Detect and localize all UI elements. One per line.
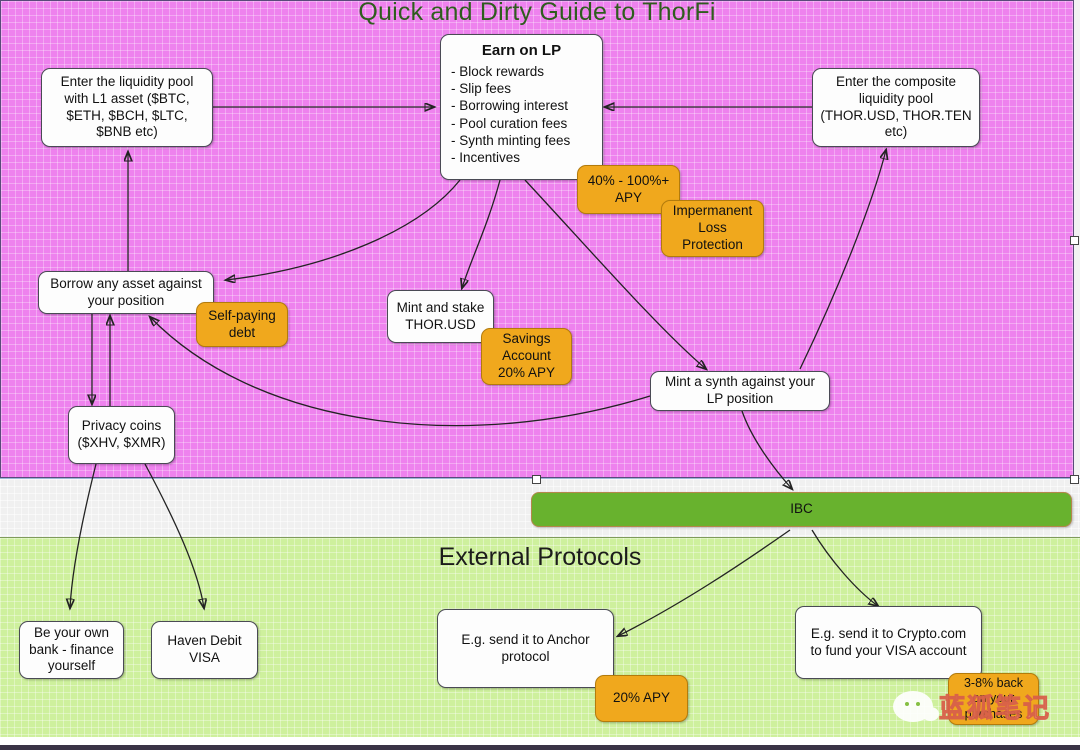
node-line: liquidity pool (820, 91, 971, 108)
bottom-dark-strip (0, 745, 1080, 750)
node-line: 20% APY (498, 365, 555, 382)
watermark-text: 蓝狐笔记 (939, 688, 1051, 725)
node-line: Account (498, 348, 555, 365)
node-line: Loss (673, 220, 753, 237)
node-list-item: - Synth minting fees (451, 132, 592, 149)
node-line: $BNB etc) (61, 124, 194, 141)
node-line: Self-paying (208, 308, 276, 325)
node-title: Earn on LP (451, 42, 592, 61)
selection-handle-right[interactable] (1070, 236, 1079, 245)
node-line: VISA (167, 650, 241, 667)
node-line: Impermanent (673, 203, 753, 220)
selection-handle-bottom-center[interactable] (532, 475, 541, 484)
node-line: bank - finance (29, 642, 114, 659)
node-line: Borrow any asset against (50, 276, 202, 293)
node-line: THOR.USD (397, 317, 485, 334)
node-line: Privacy coins (77, 418, 165, 435)
node-crypto-com[interactable]: E.g. send it to Crypto.com to fund your … (795, 606, 982, 679)
node-line: Be your own (29, 625, 114, 642)
node-mint-and-stake[interactable]: Mint and stake THOR.USD (387, 290, 494, 343)
node-line: 40% - 100%+ (588, 173, 669, 190)
node-list-item: - Pool curation fees (451, 115, 592, 132)
node-line: Protection (673, 237, 753, 254)
watermark: 蓝狐笔记 (893, 683, 1073, 729)
node-self-paying-debt[interactable]: Self-paying debt (196, 302, 288, 347)
node-impermanent-loss-protection[interactable]: Impermanent Loss Protection (661, 200, 764, 257)
node-line: your position (50, 293, 202, 310)
node-line: (THOR.USD, THOR.TEN (820, 108, 971, 125)
node-borrow-any-asset[interactable]: Borrow any asset against your position (38, 271, 214, 314)
node-line: E.g. send it to Crypto.com (810, 626, 966, 643)
node-be-your-own-bank[interactable]: Be your own bank - finance yourself (19, 621, 124, 679)
node-line: Mint and stake (397, 300, 485, 317)
node-privacy-coins[interactable]: Privacy coins ($XHV, $XMR) (68, 406, 175, 464)
node-line: $ETH, $BCH, $LTC, (61, 108, 194, 125)
node-label: IBC (790, 501, 813, 518)
node-line: protocol (461, 649, 589, 666)
node-line: debt (208, 325, 276, 342)
node-line: LP position (665, 391, 815, 408)
selection-handle-bottom-right[interactable] (1070, 475, 1079, 484)
node-line: Savings (498, 331, 555, 348)
node-line: ($XHV, $XMR) (77, 435, 165, 452)
node-line: with L1 asset ($BTC, (61, 91, 194, 108)
node-line: yourself (29, 658, 114, 675)
node-earn-on-lp[interactable]: Earn on LP - Block rewards - Slip fees -… (440, 34, 603, 180)
diagram-canvas: Quick and Dirty Guide to ThorFi External… (0, 0, 1080, 750)
node-enter-composite-pool[interactable]: Enter the composite liquidity pool (THOR… (812, 68, 980, 147)
node-line: Enter the composite (820, 74, 971, 91)
node-haven-debit-visa[interactable]: Haven Debit VISA (151, 621, 258, 679)
node-line: 20% APY (613, 690, 670, 707)
node-line: to fund your VISA account (810, 643, 966, 660)
node-anchor-apy-badge[interactable]: 20% APY (595, 675, 688, 722)
node-line: Mint a synth against your (665, 374, 815, 391)
node-line: etc) (820, 124, 971, 141)
node-line: Haven Debit (167, 633, 241, 650)
page-title: Quick and Dirty Guide to ThorFi (0, 0, 1074, 27)
node-enter-liquidity-pool[interactable]: Enter the liquidity pool with L1 asset (… (41, 68, 213, 147)
node-list-item: - Block rewards (451, 63, 592, 80)
node-mint-a-synth[interactable]: Mint a synth against your LP position (650, 371, 830, 411)
node-line: E.g. send it to Anchor (461, 632, 589, 649)
node-savings-account[interactable]: Savings Account 20% APY (481, 328, 572, 385)
node-line: APY (588, 190, 669, 207)
node-list-item: - Incentives (451, 149, 592, 166)
node-line: Enter the liquidity pool (61, 74, 194, 91)
section-title-external-protocols: External Protocols (0, 543, 1080, 572)
node-list-item: - Borrowing interest (451, 97, 592, 114)
node-list-item: - Slip fees (451, 80, 592, 97)
node-ibc-bar[interactable]: IBC (531, 492, 1072, 527)
node-anchor-protocol[interactable]: E.g. send it to Anchor protocol (437, 609, 614, 688)
wechat-icon (893, 691, 933, 722)
